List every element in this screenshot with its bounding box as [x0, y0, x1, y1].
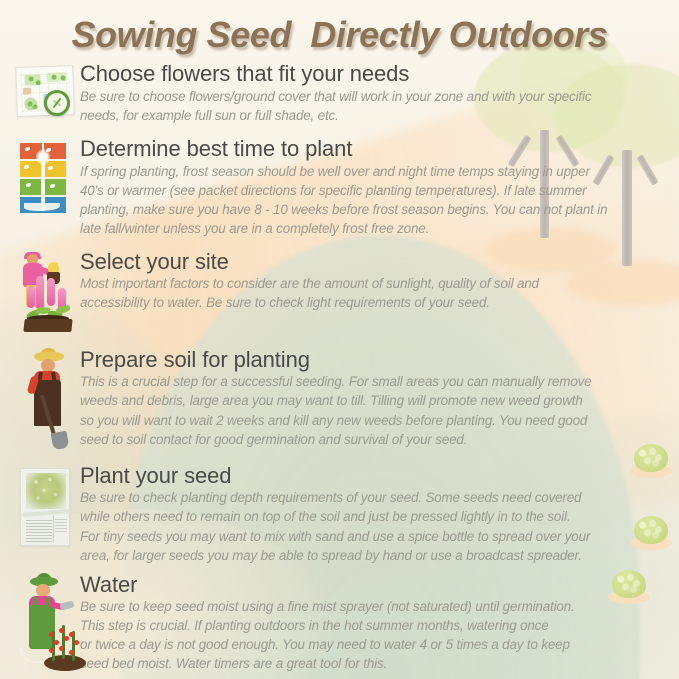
planter-box	[23, 319, 72, 332]
step-text: Select your site Most important factors …	[80, 250, 679, 313]
packet-text-lines	[26, 518, 52, 542]
plant-berry	[69, 650, 74, 655]
gardener-shovel-scene	[22, 350, 78, 450]
plant-berry	[49, 632, 54, 637]
gardener-watering-icon	[12, 575, 80, 675]
infographic-poster: Sowing Seed Directly Outdoors	[0, 0, 679, 679]
step-select-site: Select your site Most important factors …	[0, 250, 679, 334]
packet-divider	[53, 515, 54, 543]
gardener-head	[36, 584, 50, 597]
plant-berry	[69, 632, 74, 637]
step-plant-seed: Plant your seed Be sure to check plantin…	[0, 464, 679, 565]
seasons-tree-overlay	[34, 145, 52, 211]
step-body: Be sure to choose flowers/ground cover t…	[80, 87, 669, 125]
step-heading: Water	[80, 573, 669, 597]
gardener-leg	[21, 369, 80, 399]
step-text: Prepare soil for planting This is a cruc…	[80, 348, 679, 449]
compass-icon	[44, 90, 70, 116]
step-body: This is a crucial step for a successful …	[80, 372, 669, 448]
garden-plan-compass-icon	[12, 64, 80, 124]
packet-band	[23, 509, 69, 517]
leaf	[56, 305, 71, 313]
plant-berry	[64, 636, 69, 641]
step-heading: Prepare soil for planting	[80, 348, 669, 372]
packet-text-lines-secondary	[55, 518, 67, 532]
watering-scene	[14, 575, 86, 671]
step-heading: Choose flowers that fit your needs	[80, 62, 669, 86]
page-title: Sowing Seed Directly Outdoors	[0, 14, 679, 56]
plant-berry	[59, 646, 64, 651]
plant-berry	[49, 648, 54, 653]
plant-berry	[54, 640, 59, 645]
step-body: If spring planting, frost season should …	[80, 162, 669, 238]
seed-packet	[20, 468, 70, 546]
step-determine-time: Determine best time to plant If spring p…	[0, 137, 679, 238]
step-text: Determine best time to plant If spring p…	[80, 137, 679, 238]
soil-bed	[44, 655, 86, 671]
plant-berry	[59, 628, 64, 633]
step-heading: Select your site	[80, 250, 669, 274]
packet-photo	[26, 473, 66, 509]
steps-list: Choose flowers that fit your needs Be su…	[0, 62, 679, 677]
gardener-leg	[13, 593, 87, 621]
step-body: Be sure to check planting depth requirem…	[80, 488, 669, 564]
seed-packet-icon	[12, 466, 80, 562]
step-prepare-soil: Prepare soil for planting This is a cruc…	[0, 348, 679, 454]
planter-box-flowers-icon	[12, 252, 80, 334]
step-water: Water Be sure to keep seed moist using a…	[0, 573, 679, 675]
step-body: Be sure to keep seed moist using a fine …	[80, 597, 669, 673]
step-choose-flowers: Choose flowers that fit your needs Be su…	[0, 62, 679, 125]
step-text: Choose flowers that fit your needs Be su…	[80, 62, 679, 125]
gardener-with-shovel-icon	[12, 350, 80, 454]
shovel-blade	[51, 430, 70, 450]
step-text: Plant your seed Be sure to check plantin…	[80, 464, 679, 565]
four-seasons-icon	[12, 139, 80, 229]
seasons-bars	[20, 143, 66, 215]
plan-path	[23, 87, 31, 94]
plant-berry	[74, 640, 79, 645]
step-heading: Plant your seed	[80, 464, 669, 488]
planter-scene	[14, 252, 78, 332]
step-heading: Determine best time to plant	[80, 137, 669, 161]
step-text: Water Be sure to keep seed moist using a…	[80, 573, 679, 674]
step-body: Most important factors to consider are t…	[80, 274, 669, 312]
